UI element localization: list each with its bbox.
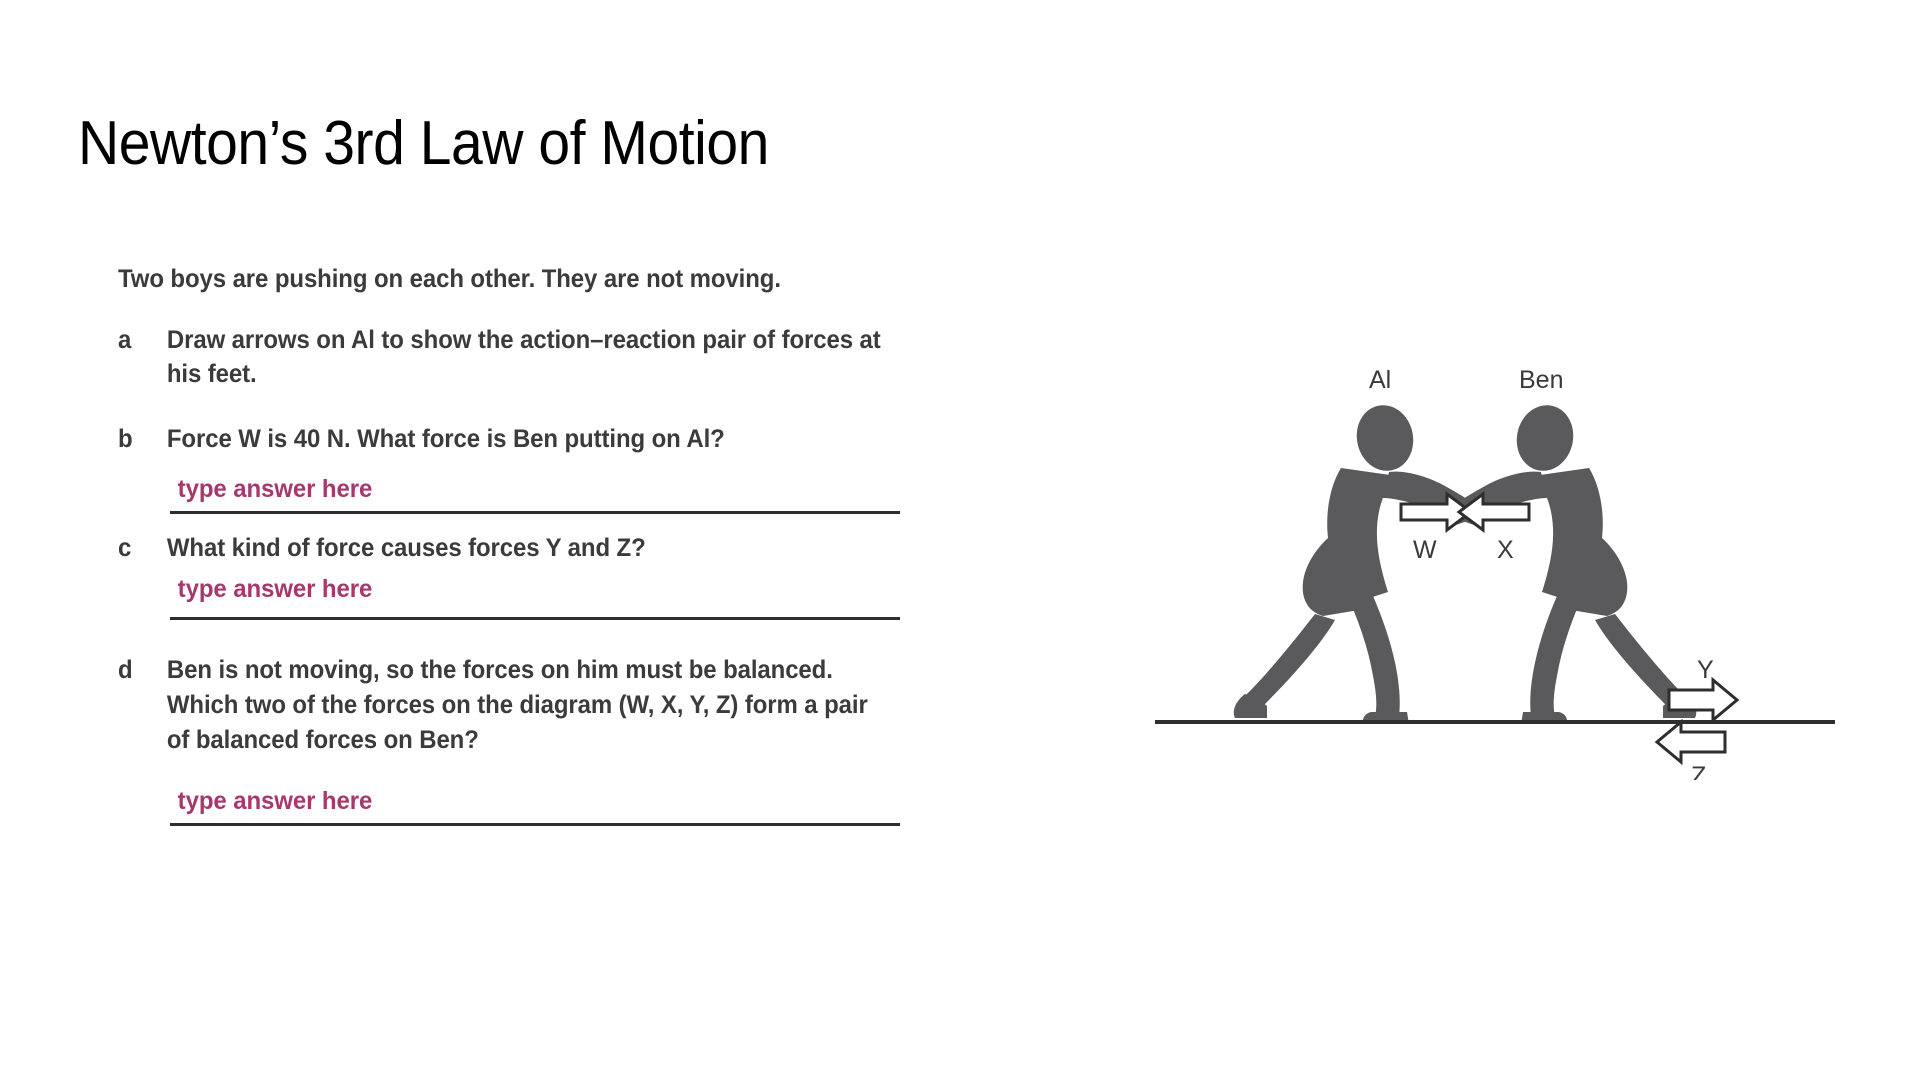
slide-canvas: Newton’s 3rd Law of Motion Two boys are … xyxy=(0,0,1920,1080)
answer-placeholder-c[interactable]: type answer here xyxy=(170,575,372,604)
question-b: b Force W is 40 N. What force is Ben put… xyxy=(118,422,889,457)
person-label-al: Al xyxy=(1369,366,1391,394)
force-arrow-z xyxy=(1657,722,1725,762)
worksheet-intro: Two boys are pushing on each other. They… xyxy=(118,262,889,297)
answer-rule-d xyxy=(170,823,900,826)
answer-rule-c xyxy=(170,617,900,620)
question-d-text: Ben is not moving, so the forces on him … xyxy=(167,653,889,757)
question-d-letter: d xyxy=(118,653,167,688)
force-label-w: W xyxy=(1413,536,1437,564)
page-title: Newton’s 3rd Law of Motion xyxy=(78,108,769,179)
force-label-z: Z xyxy=(1691,762,1706,780)
question-a-text: Draw arrows on Al to show the action–rea… xyxy=(167,323,889,392)
force-label-y: Y xyxy=(1697,656,1714,684)
question-d-text-bold: balanced forces xyxy=(196,726,377,754)
question-a: a Draw arrows on Al to show the action–r… xyxy=(118,323,889,392)
question-d: d Ben is not moving, so the forces on hi… xyxy=(118,653,889,757)
answer-field-d[interactable]: type answer here xyxy=(170,787,938,831)
answer-rule-b xyxy=(170,511,900,514)
question-c-text: What kind of force causes forces Y and Z… xyxy=(167,531,889,566)
force-diagram: W X Y Z Al Ben xyxy=(1145,360,1845,780)
silhouette-al xyxy=(1234,400,1483,724)
question-c: c What kind of force causes forces Y and… xyxy=(118,531,889,566)
force-label-x: X xyxy=(1497,536,1514,564)
silhouette-ben xyxy=(1447,400,1696,724)
answer-placeholder-b[interactable]: type answer here xyxy=(170,475,372,504)
question-d-text-part2: on Ben? xyxy=(377,726,479,754)
answer-placeholder-d[interactable]: type answer here xyxy=(170,787,372,816)
answer-field-c[interactable]: type answer here xyxy=(170,575,938,623)
answer-field-b[interactable]: type answer here xyxy=(170,475,938,519)
person-label-ben: Ben xyxy=(1519,366,1563,394)
question-b-letter: b xyxy=(118,422,167,457)
question-b-text: Force W is 40 N. What force is Ben putti… xyxy=(167,422,889,457)
question-a-letter: a xyxy=(118,323,167,358)
worksheet-block: Two boys are pushing on each other. They… xyxy=(118,262,938,831)
question-c-letter: c xyxy=(118,531,167,566)
